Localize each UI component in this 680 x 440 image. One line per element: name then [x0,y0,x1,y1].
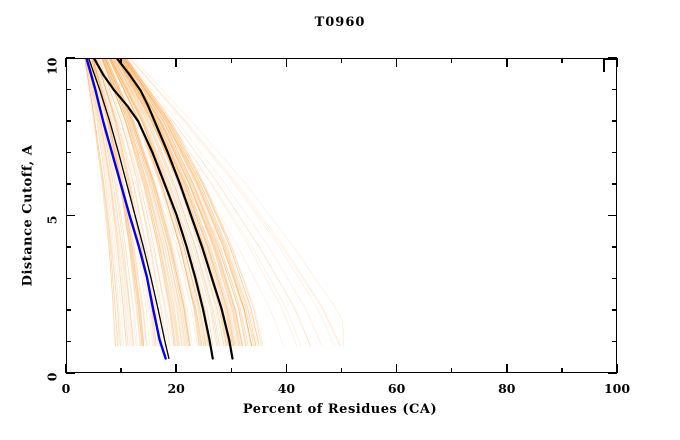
y-tick-minor-7 [66,152,71,154]
y-tick-minor-9 [66,89,71,91]
x-tick-label-20: 20 [167,381,184,396]
x-tick-top-80 [506,58,508,67]
prediction-curve [122,59,241,346]
x-tick-minor-10 [120,368,122,373]
plot-canvas [67,59,615,371]
y-tick-right-4 [612,246,617,248]
prediction-curve [89,59,134,346]
x-tick-top-40 [286,58,288,67]
y-tick-minor-2 [66,309,71,311]
y-tick-right-2 [612,309,617,311]
prediction-curve [122,59,242,346]
y-tick-minor-3 [66,278,71,280]
prediction-curve [107,59,190,346]
y-tick-minor-4 [66,246,71,248]
x-tick-top-50 [341,58,343,63]
y-tick-minor-6 [66,183,71,185]
prediction-curve [131,59,341,346]
prediction-curve [134,59,344,346]
prediction-curve [103,59,204,346]
y-tick-major-10 [66,57,75,59]
x-tick-minor-30 [231,368,233,373]
y-tick-minor-8 [66,120,71,122]
x-tick-top-10 [120,58,122,63]
prediction-curve [124,59,252,346]
x-tick-label-100: 100 [604,381,630,396]
y-tick-right-8 [612,120,617,122]
prediction-curve [102,59,178,346]
prediction-curve [93,59,147,346]
prediction-curve [85,59,115,346]
prediction-curve [88,59,128,346]
x-tick-top-0 [65,58,67,67]
y-tick-right-6 [612,183,617,185]
x-tick-label-40: 40 [278,381,295,396]
prediction-curve [85,59,115,346]
y-tick-label-5: 5 [45,215,60,267]
prediction-curve [120,59,234,346]
prediction-curve [118,59,229,346]
x-tick-minor-70 [451,368,453,373]
x-tick-top-20 [175,58,177,67]
prediction-curve [119,59,233,346]
x-tick-top-60 [396,58,398,67]
y-tick-right-3 [612,278,617,280]
prediction-curve [104,59,182,346]
prediction-curve [115,59,219,346]
x-tick-major-40 [286,364,288,373]
x-tick-top-30 [231,58,233,63]
frame-top-right-notch-vert [603,58,605,72]
page-title: T0960 [0,15,680,30]
x-tick-major-20 [175,364,177,373]
prediction-curve [131,59,335,346]
plot-frame [66,58,617,373]
y-tick-right-5 [608,215,617,217]
y-tick-major-0 [66,372,75,374]
prediction-curve [131,59,340,346]
x-tick-major-60 [396,364,398,373]
x-tick-label-60: 60 [388,381,405,396]
frame-top-right-notch [603,58,617,60]
x-tick-label-80: 80 [498,381,515,396]
chart-root: T0960 020406080100 0510 Percent of Resid… [0,0,680,440]
prediction-curve [93,59,143,346]
prediction-curve [113,59,213,346]
prediction-curve [85,59,116,346]
x-axis-label: Percent of Residues (CA) [0,402,680,417]
y-tick-minor-1 [66,341,71,343]
x-tick-minor-50 [341,368,343,373]
y-tick-right-1 [612,341,617,343]
x-tick-top-90 [561,58,563,63]
prediction-curve [96,59,173,346]
x-tick-minor-90 [561,368,563,373]
prediction-curve [103,59,178,346]
y-tick-major-5 [66,215,75,217]
x-tick-label-0: 0 [62,381,71,396]
x-tick-major-80 [506,364,508,373]
y-tick-right-9 [612,89,617,91]
y-tick-right-7 [612,152,617,154]
y-axis-label: Distance Cutoff, A [21,96,36,336]
prediction-curve [107,59,193,346]
x-tick-top-70 [451,58,453,63]
prediction-curve [123,59,246,346]
y-tick-label-10: 10 [45,58,60,110]
prediction-curve [125,59,251,346]
y-tick-right-0 [608,372,617,374]
prediction-curve [113,59,211,346]
prediction-curve [102,59,174,346]
